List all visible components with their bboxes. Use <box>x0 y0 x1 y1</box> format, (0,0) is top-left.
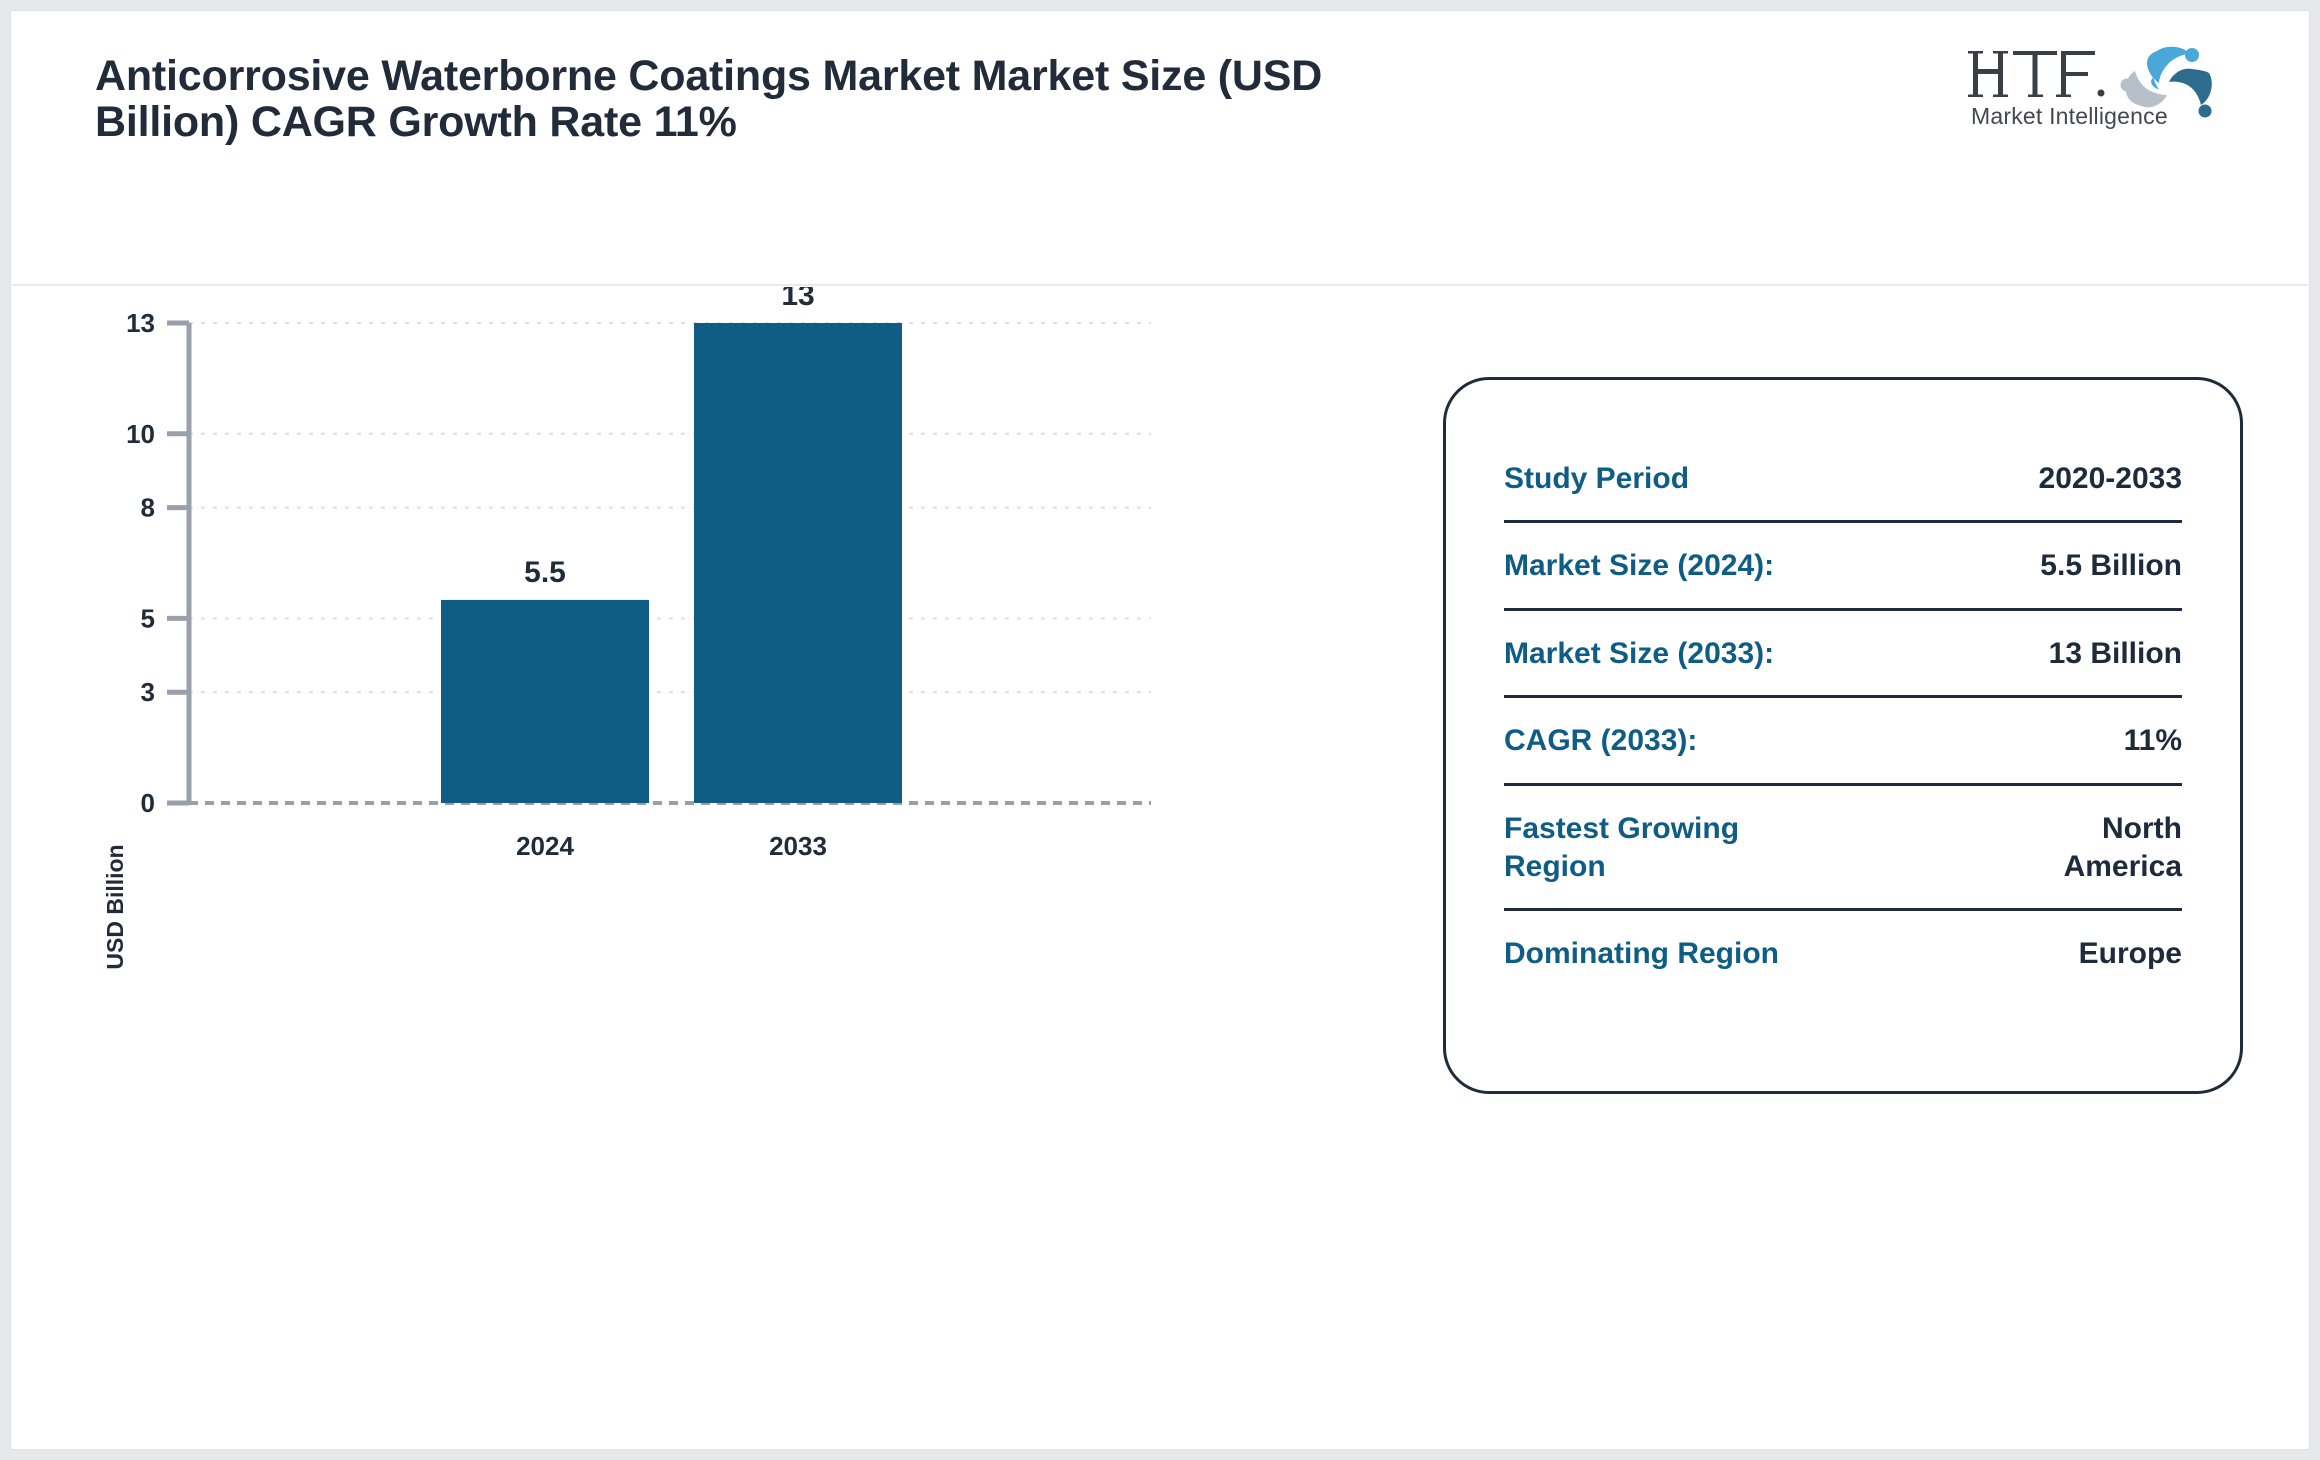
card-row-label: Market Size (2024): <box>1504 547 1774 585</box>
card-row-label: Study Period <box>1504 460 1689 498</box>
logo-tagline: Market Intelligence <box>1971 103 2168 130</box>
x-category-labels: 20242033 <box>516 831 827 861</box>
card-row-value: 13 Billion <box>2049 635 2182 673</box>
chart-canvas: 03581013 5.513 20242033 USD Billion <box>11 287 1411 1447</box>
card-row: Dominating RegionEurope <box>1504 911 2182 995</box>
y-axis-label: USD Billion <box>102 844 128 969</box>
card-row: Market Size (2033):13 Billion <box>1504 611 2182 698</box>
htf-logo: Market Intelligence <box>1965 45 2225 137</box>
axes <box>167 323 189 803</box>
page-title: Anticorrosive Waterborne Coatings Market… <box>95 53 1345 146</box>
bar-chart: 03581013 5.513 20242033 USD Billion <box>11 287 1411 1447</box>
card-row-label: Fastest Growing Region <box>1504 810 1834 887</box>
card-row-label: CAGR (2033): <box>1504 722 1697 760</box>
card-row: Market Size (2024):5.5 Billion <box>1504 523 2182 610</box>
bar-value-label: 5.5 <box>524 556 566 589</box>
bar <box>694 323 902 803</box>
card-row-value: 2020-2033 <box>2039 460 2182 498</box>
gridlines <box>189 323 1151 803</box>
card-row-value: 11% <box>2124 722 2182 760</box>
x-category-label: 2024 <box>516 831 574 861</box>
card-row-label: Dominating Region <box>1504 935 1779 973</box>
card-row-value: North America <box>2064 810 2182 887</box>
card-row-value: Europe <box>2079 935 2182 973</box>
y-tick-label: 5 <box>141 603 155 633</box>
page-header: Anticorrosive Waterborne Coatings Market… <box>11 11 2310 286</box>
card-row-label: Market Size (2033): <box>1504 635 1774 673</box>
card-row-value: 5.5 Billion <box>2040 547 2182 585</box>
y-tick-label: 10 <box>126 419 155 449</box>
market-summary-card: Study Period2020-2033Market Size (2024):… <box>1443 377 2243 1094</box>
bar-value-label: 13 <box>781 287 814 312</box>
y-tick-labels: 03581013 <box>126 308 155 818</box>
y-tick-label: 8 <box>141 493 155 523</box>
bars <box>441 323 902 803</box>
x-category-label: 2033 <box>769 831 827 861</box>
y-tick-label: 0 <box>141 788 155 818</box>
card-row: Fastest Growing RegionNorth America <box>1504 786 2182 912</box>
report-page: Anticorrosive Waterborne Coatings Market… <box>10 10 2310 1450</box>
card-row: Study Period2020-2033 <box>1504 436 2182 523</box>
bar <box>441 600 649 803</box>
card-row: CAGR (2033):11% <box>1504 698 2182 785</box>
y-tick-label: 13 <box>126 308 155 338</box>
y-tick-label: 3 <box>141 677 155 707</box>
